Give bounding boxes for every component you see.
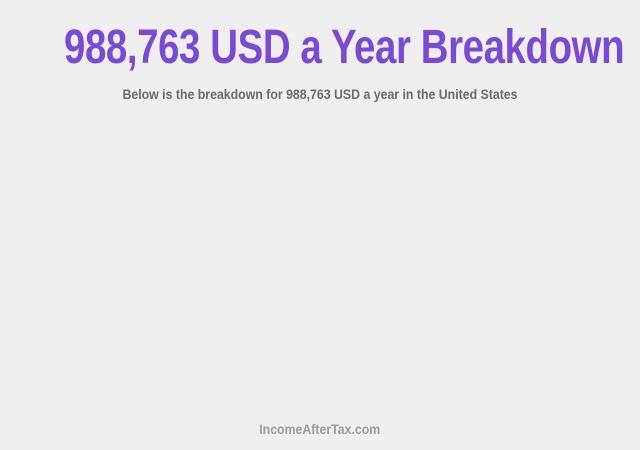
chart-area (0, 115, 640, 410)
page-footer: IncomeAfterTax.com (0, 420, 640, 439)
page-subtitle: Below is the breakdown for 988,763 USD a… (38, 85, 601, 103)
site-credit: IncomeAfterTax.com (260, 420, 381, 438)
chart-canvas (0, 115, 640, 410)
income-breakdown-page: 988,763 USD a Year Breakdown Below is th… (0, 0, 640, 450)
page-title: 988,763 USD a Year Breakdown (64, 22, 576, 74)
